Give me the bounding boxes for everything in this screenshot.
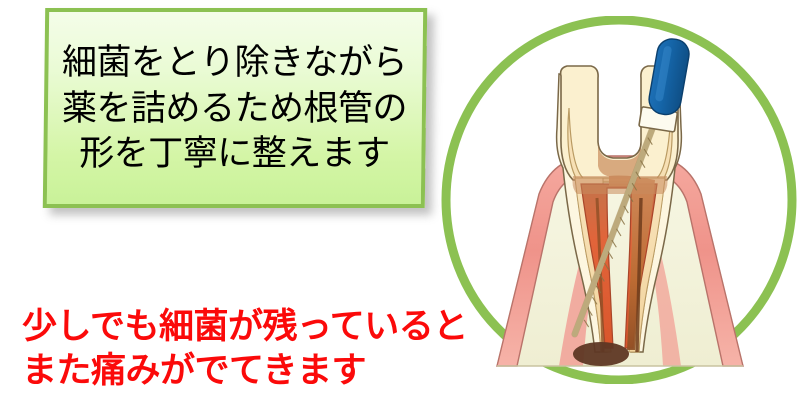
warning-text-block: 少しでも細菌が残っていると また痛みがでてきます	[22, 305, 468, 393]
cavity-floor	[573, 176, 668, 194]
slide-canvas: 細菌をとり除きながら 薬を詰めるため根管の 形を丁寧に整えます 少しでも細菌が残…	[0, 0, 812, 403]
caption-box: 細菌をとり除きながら 薬を詰めるため根管の 形を丁寧に整えます	[43, 8, 427, 208]
warning-line-2: また痛みがでてきます	[22, 349, 468, 393]
caption-line-1: 細菌をとり除きながら	[62, 40, 407, 86]
caption-line-3: 形を丁寧に整えます	[62, 131, 407, 177]
caption-line-2: 薬を詰めるため根管の	[62, 85, 407, 131]
root-canal-illustration	[441, 16, 797, 384]
warning-line-1: 少しでも細菌が残っていると	[22, 305, 468, 349]
periapical-lesion	[573, 342, 629, 366]
caption-text-block: 細菌をとり除きながら 薬を詰めるため根管の 形を丁寧に整えます	[62, 40, 407, 177]
